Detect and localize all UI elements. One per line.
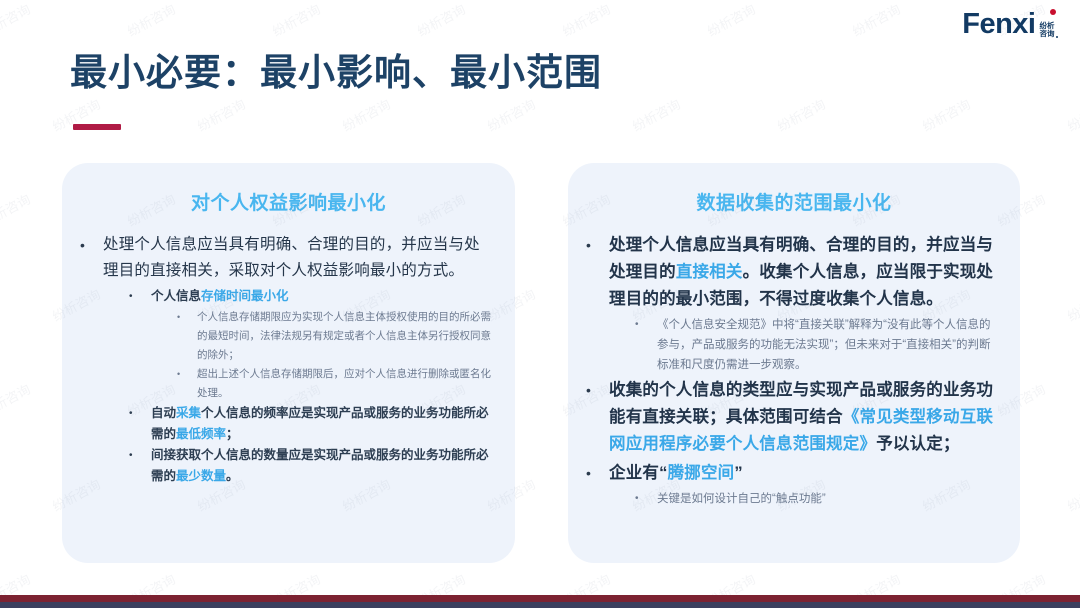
text-run: 处理个人信息应当具有明确、合理的目的，并应当与处理目的直接相关，采取对个人权益影… [103, 236, 480, 279]
bullet-marker-icon: • [129, 403, 133, 424]
bullet-list-level-1: •处理个人信息应当具有明确、合理的目的，并应当与处理目的直接相关，采取对个人权益… [80, 232, 495, 487]
text-run: ” [734, 464, 742, 482]
card-personal-rights: 对个人权益影响最小化 •处理个人信息应当具有明确、合理的目的，并应当与处理目的直… [62, 163, 515, 563]
card-heading: 数据收集的范围最小化 [568, 188, 1020, 215]
bottom-bar-navy [0, 602, 1080, 608]
bullet-list-level-2: •个人信息存储时间最小化•个人信息存储期限应为实现个人信息主体授权使用的目的所必… [103, 286, 495, 487]
text-run: 予以认定； [876, 435, 960, 453]
bullet-marker-icon: • [80, 232, 85, 258]
highlighted-term: 采集 [176, 406, 201, 420]
bullet-item: •自动采集个人信息的频率应是实现产品或服务的业务功能所必需的最低频率； [129, 403, 495, 445]
bullet-list-level-1: •处理个人信息应当具有明确、合理的目的，并应当与处理目的直接相关。收集个人信息，… [586, 232, 1000, 509]
bottom-bar-red [0, 595, 1080, 602]
logo-wordmark: Fenxi [962, 10, 1035, 39]
bullet-text: 收集的个人信息的类型应与实现产品或服务的业务功能有直接关联；具体范围可结合《常见… [609, 377, 1000, 458]
title-accent-rule [73, 124, 121, 130]
text-run: ； [226, 427, 239, 441]
highlighted-term: 直接相关 [676, 263, 743, 281]
highlighted-term: 最低频率 [176, 427, 226, 441]
bullet-text: 关键是如何设计自己的“触点功能” [657, 489, 1000, 509]
bullet-marker-icon: • [586, 232, 591, 259]
text-run: 个人信息存储期限应为实现个人信息主体授权使用的目的所必需的最短时间，法律法规另有… [197, 311, 491, 361]
bullet-item: •超出上述个人信息存储期限后，应对个人信息进行删除或匿名化处理。 [177, 365, 495, 403]
bullet-text: 个人信息存储时间最小化 [151, 286, 495, 307]
bullet-item: •处理个人信息应当具有明确、合理的目的，并应当与处理目的直接相关。收集个人信息，… [586, 232, 1000, 375]
bullet-item: •收集的个人信息的类型应与实现产品或服务的业务功能有直接关联；具体范围可结合《常… [586, 377, 1000, 458]
highlighted-term: 最少数量 [176, 469, 226, 483]
card-heading: 对个人权益影响最小化 [62, 188, 515, 215]
bullet-text: 超出上述个人信息存储期限后，应对个人信息进行删除或匿名化处理。 [197, 365, 495, 403]
bullet-list-level-2: •《个人信息安全规范》中将“直接关联”解释为“没有此等个人信息的参与，产品或服务… [609, 315, 1000, 375]
bullet-marker-icon: • [129, 445, 133, 466]
logo-chinese-name: 纷析 咨询 [1040, 22, 1055, 38]
highlighted-term: 存储时间最小化 [201, 289, 289, 303]
brand-logo: Fenxi 纷析 咨询 [962, 10, 1058, 39]
bullet-item: •《个人信息安全规范》中将“直接关联”解释为“没有此等个人信息的参与，产品或服务… [635, 315, 1000, 375]
bullet-text: 间接获取个人信息的数量应是实现产品或服务的业务功能所必需的最少数量。 [151, 445, 495, 487]
bullet-text: 自动采集个人信息的频率应是实现产品或服务的业务功能所必需的最低频率； [151, 403, 495, 445]
text-run: 企业有“ [609, 464, 668, 482]
bullet-item: •个人信息存储期限应为实现个人信息主体授权使用的目的所必需的最短时间，法律法规另… [177, 308, 495, 365]
card-body: •处理个人信息应当具有明确、合理的目的，并应当与处理目的直接相关，采取对个人权益… [62, 215, 515, 487]
bullet-item: •处理个人信息应当具有明确、合理的目的，并应当与处理目的直接相关，采取对个人权益… [80, 232, 495, 487]
bullet-marker-icon: • [635, 315, 639, 335]
text-run: 超出上述个人信息存储期限后，应对个人信息进行删除或匿名化处理。 [197, 368, 491, 399]
bullet-marker-icon: • [586, 377, 591, 404]
logo-cn-line-2: 咨询 [1040, 30, 1055, 38]
bullet-text: 处理个人信息应当具有明确、合理的目的，并应当与处理目的直接相关。收集个人信息，应… [609, 232, 1000, 313]
bullet-item: •个人信息存储时间最小化•个人信息存储期限应为实现个人信息主体授权使用的目的所必… [129, 286, 495, 403]
bullet-marker-icon: • [635, 489, 639, 509]
bullet-text: 个人信息存储期限应为实现个人信息主体授权使用的目的所必需的最短时间，法律法规另有… [197, 308, 495, 365]
page-title: 最小必要：最小影响、最小范围 [70, 52, 602, 95]
card-collection-scope: 数据收集的范围最小化 •处理个人信息应当具有明确、合理的目的，并应当与处理目的直… [568, 163, 1020, 563]
text-run: 。 [226, 469, 239, 483]
text-run: 《个人信息安全规范》中将“直接关联”解释为“没有此等个人信息的参与，产品或服务的… [657, 319, 991, 371]
bullet-marker-icon: • [177, 365, 180, 384]
bullet-list-level-2: •关键是如何设计自己的“触点功能” [609, 489, 1000, 509]
bullet-marker-icon: • [129, 286, 133, 307]
bullet-text: 处理个人信息应当具有明确、合理的目的，并应当与处理目的直接相关，采取对个人权益影… [103, 232, 495, 284]
card-body: •处理个人信息应当具有明确、合理的目的，并应当与处理目的直接相关。收集个人信息，… [568, 215, 1020, 509]
logo-accent-dot [1050, 9, 1056, 15]
text-run: 关键是如何设计自己的“触点功能” [657, 493, 826, 505]
bullet-item: •企业有“腾挪空间”•关键是如何设计自己的“触点功能” [586, 460, 1000, 509]
logo-trailing-dot [1056, 36, 1059, 39]
bullet-marker-icon: • [586, 460, 591, 487]
text-run: 自动 [151, 406, 176, 420]
bullet-item: •间接获取个人信息的数量应是实现产品或服务的业务功能所必需的最少数量。 [129, 445, 495, 487]
bullet-text: 《个人信息安全规范》中将“直接关联”解释为“没有此等个人信息的参与，产品或服务的… [657, 315, 1000, 375]
bullet-text: 企业有“腾挪空间” [609, 460, 1000, 487]
bullet-marker-icon: • [177, 308, 180, 327]
highlighted-term: 腾挪空间 [668, 464, 735, 482]
text-run: 个人信息 [151, 289, 201, 303]
bullet-item: •关键是如何设计自己的“触点功能” [635, 489, 1000, 509]
bullet-list-level-3: •个人信息存储期限应为实现个人信息主体授权使用的目的所必需的最短时间，法律法规另… [151, 308, 495, 403]
